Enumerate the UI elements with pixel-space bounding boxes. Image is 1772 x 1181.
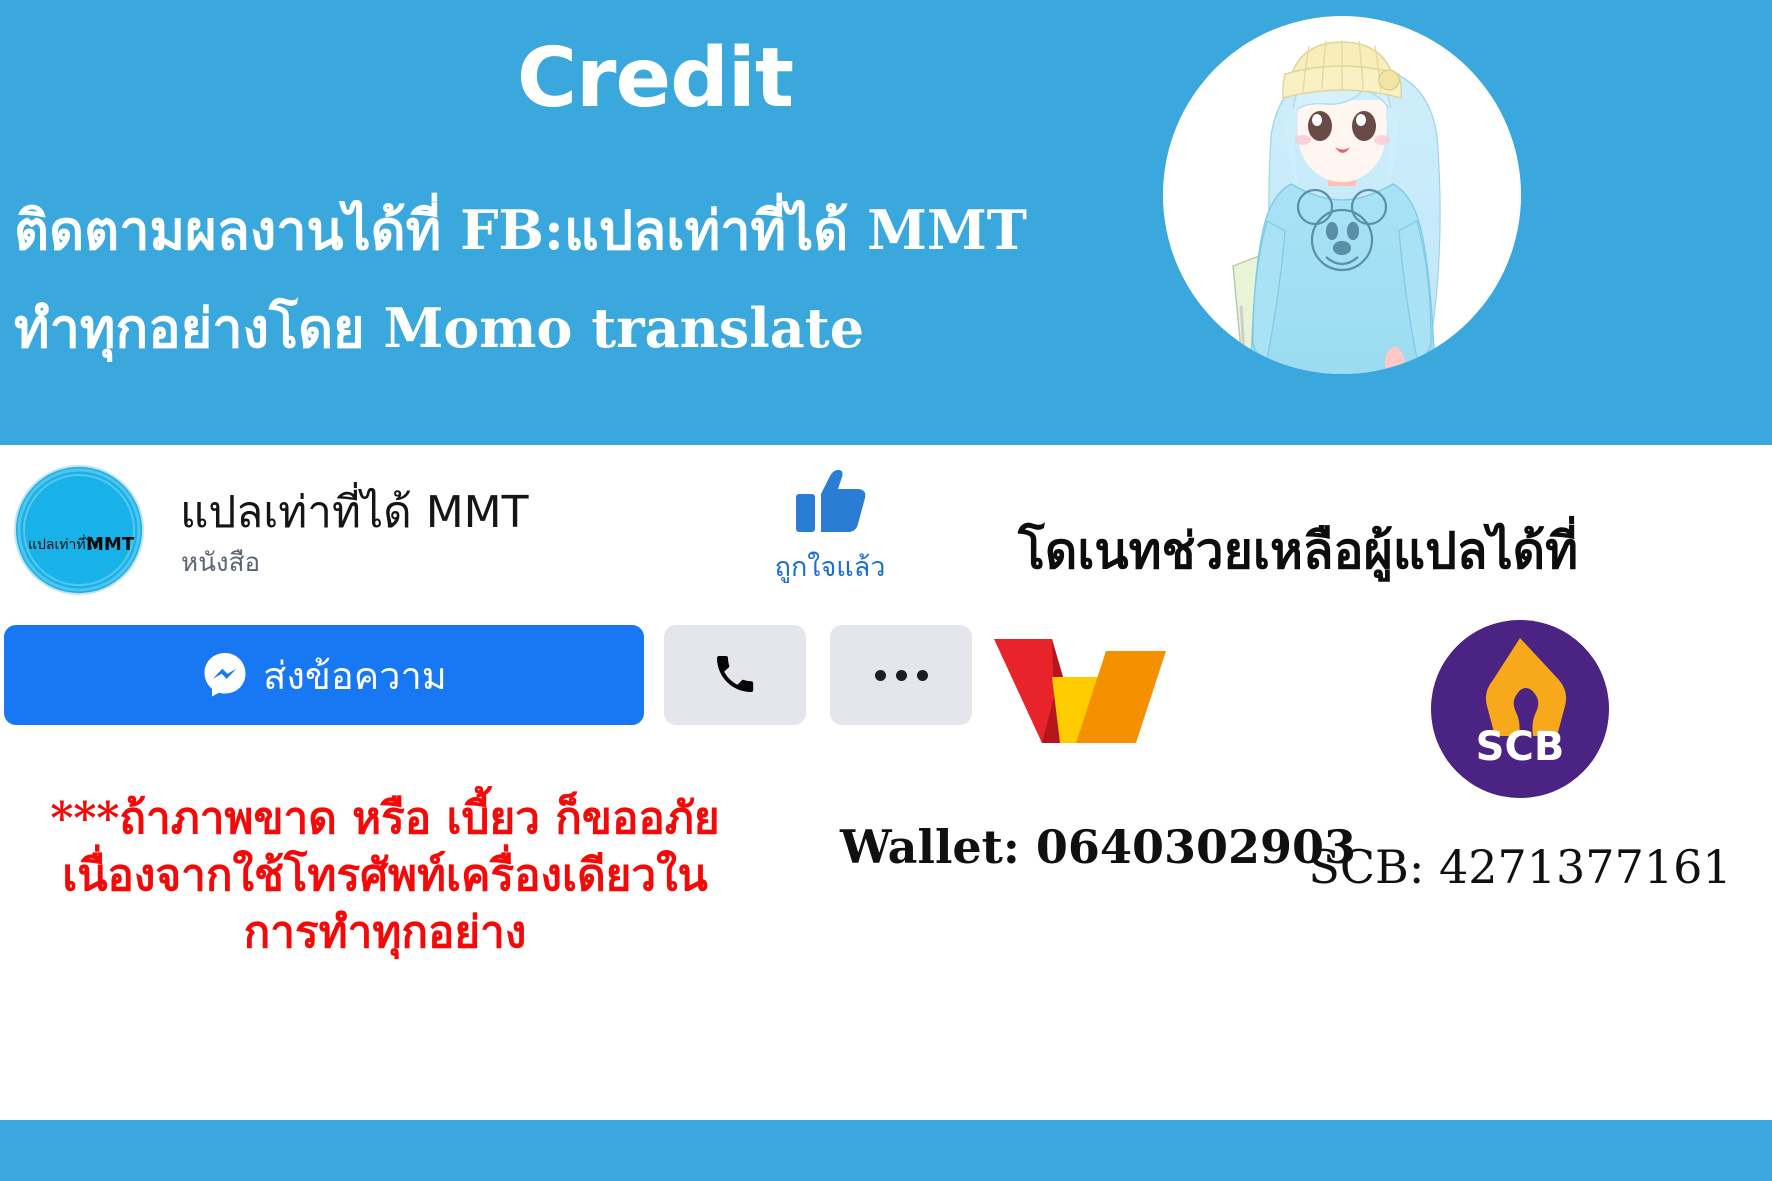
page-title-credit: Credit [0,38,1310,120]
avatar [1163,16,1521,374]
scb-bank-block: SCB SCB: 4271377161 [1280,620,1760,894]
call-button[interactable] [664,625,806,725]
profile-row: แปลเท่าที่ได้ MMT แปลเท่าที่ได้ MMT หนัง… [8,455,708,595]
like-status-block[interactable]: ถูกใจแล้ว [740,470,920,588]
scb-bank-icon: SCB [1431,620,1609,798]
send-message-label: ส่งข้อความ [263,645,447,706]
header-author-line: ทำทุกอย่างโดย Momo translate [14,300,864,357]
wallet-number-label: Wallet: 0640302903 [840,820,1320,874]
svg-text:MMT: MMT [86,534,135,555]
page-profile-logo[interactable]: แปลเท่าที่ได้ MMT [16,467,142,593]
thumbs-up-icon [740,470,920,541]
page-category-label: หนังสือ [181,542,260,583]
action-button-row: ส่งข้อความ [0,625,900,729]
disclaimer-line-3: การทำทุกอย่าง [0,904,770,961]
like-label: ถูกใจแล้ว [740,545,920,588]
messenger-icon [201,650,249,701]
phone-icon [711,650,759,701]
truemoney-wallet-icon [840,635,1320,752]
disclaimer-line-2: เนื่องจากใช้โทรศัพท์เครื่องเดียวใน [0,847,770,904]
header-follow-line: ติดตามผลงานได้ที่ FB:แปลเท่าที่ได้ MMT [14,202,1027,259]
credit-header-banner: Credit ติดตามผลงานได้ที่ FB:แปลเท่าที่ได… [0,0,1772,445]
facebook-page-card: แปลเท่าที่ได้ MMT แปลเท่าที่ได้ MMT หนัง… [0,445,1772,1125]
donate-heading: โดเนทช่วยเหลือผู้แปลได้ที่ [1018,512,1578,591]
page-name[interactable]: แปลเท่าที่ได้ MMT [180,477,529,547]
scb-number-label: SCB: 4271377161 [1280,840,1760,894]
disclaimer-line-1: ***ถ้าภาพขาด หรือ เบี้ยว ก็ขออภัย [0,790,770,847]
svg-text:SCB: SCB [1476,724,1565,770]
footer-strip [0,1120,1772,1181]
disclaimer-note: ***ถ้าภาพขาด หรือ เบี้ยว ก็ขออภัย เนื่อง… [0,790,770,962]
send-message-button[interactable]: ส่งข้อความ [4,625,644,725]
truemoney-wallet-block: Wallet: 0640302903 [840,635,1320,874]
